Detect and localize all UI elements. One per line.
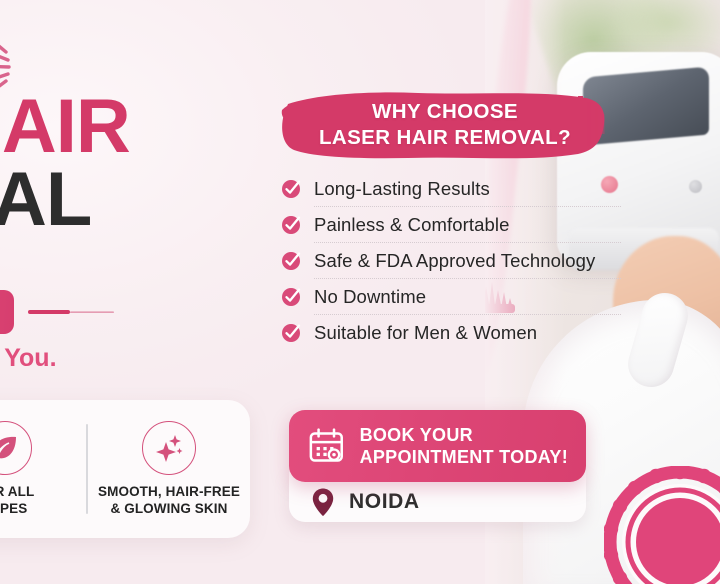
sparkle-icon xyxy=(153,432,185,464)
cta-line-1: BOOK YOUR xyxy=(360,425,568,445)
section-title-brush: WHY CHOOSE LASER HAIR REMOVAL? xyxy=(278,84,612,164)
city-badge-row: DA xyxy=(0,290,114,334)
checklist-item: No Downtime xyxy=(281,280,621,313)
check-circle-icon xyxy=(281,214,302,235)
cta-line-2: APPOINTMENT TODAY! xyxy=(360,447,568,467)
checklist-separator xyxy=(314,242,621,243)
tagline: ident You. xyxy=(0,344,57,373)
book-appointment-button[interactable]: BOOK YOUR APPOINTMENT TODAY! xyxy=(289,410,586,482)
section-title-text: WHY CHOOSE LASER HAIR REMOVAL? xyxy=(278,84,612,164)
check-circle-icon xyxy=(281,322,302,343)
calendar-icon xyxy=(307,426,346,466)
checklist-item: Long-Lasting Results xyxy=(281,172,621,205)
checklist-item: Suitable for Men & Women xyxy=(281,316,621,349)
checklist-separator xyxy=(314,314,621,315)
section-title-line-2: LASER HAIR REMOVAL? xyxy=(319,126,571,150)
promo-banner: HAIR VAL DA ident You. FOR ALL TYPES xyxy=(0,0,720,584)
checklist-label: Suitable for Men & Women xyxy=(314,322,537,344)
headline-line-2: VAL xyxy=(0,164,278,235)
feature-label-0: FOR ALL TYPES xyxy=(0,484,34,517)
feature-card: FOR ALL TYPES SMOOTH, HAIR-FREE & GLOWIN… xyxy=(0,400,250,538)
benefits-checklist: Long-Lasting Results Painless & Comforta… xyxy=(281,172,621,349)
map-pin-icon xyxy=(311,487,335,517)
headline: HAIR VAL xyxy=(0,92,278,235)
checklist-separator xyxy=(314,206,621,207)
checklist-label: Painless & Comfortable xyxy=(314,214,510,236)
checklist-item: Safe & FDA Approved Technology xyxy=(281,244,621,277)
location-label: NOIDA xyxy=(349,490,420,514)
checklist-label: No Downtime xyxy=(314,286,426,308)
dash-line-decor xyxy=(28,307,114,317)
feature-label-1: SMOOTH, HAIR-FREE & GLOWING SKIN xyxy=(98,484,240,517)
cta-block: BOOK YOUR APPOINTMENT TODAY! NOIDA xyxy=(289,410,586,522)
leaf-icon-circle xyxy=(0,421,32,475)
checklist-label: Safe & FDA Approved Technology xyxy=(314,250,595,272)
leaf-icon xyxy=(0,432,21,464)
feature-item-1: SMOOTH, HAIR-FREE & GLOWING SKIN xyxy=(88,421,250,517)
feature-item-0: FOR ALL TYPES xyxy=(0,421,86,517)
check-circle-icon xyxy=(281,178,302,199)
certified-seal-badge xyxy=(604,466,720,584)
cta-text: BOOK YOUR APPOINTMENT TODAY! xyxy=(360,425,568,467)
section-title-line-1: WHY CHOOSE xyxy=(372,100,518,124)
headline-line-1: HAIR xyxy=(0,92,278,162)
sparkle-icon-circle xyxy=(142,421,196,475)
checklist-label: Long-Lasting Results xyxy=(314,178,490,200)
check-circle-icon xyxy=(281,286,302,307)
check-circle-icon xyxy=(281,250,302,271)
checklist-item: Painless & Comfortable xyxy=(281,208,621,241)
city-badge: DA xyxy=(0,290,14,334)
checklist-separator xyxy=(314,278,621,279)
